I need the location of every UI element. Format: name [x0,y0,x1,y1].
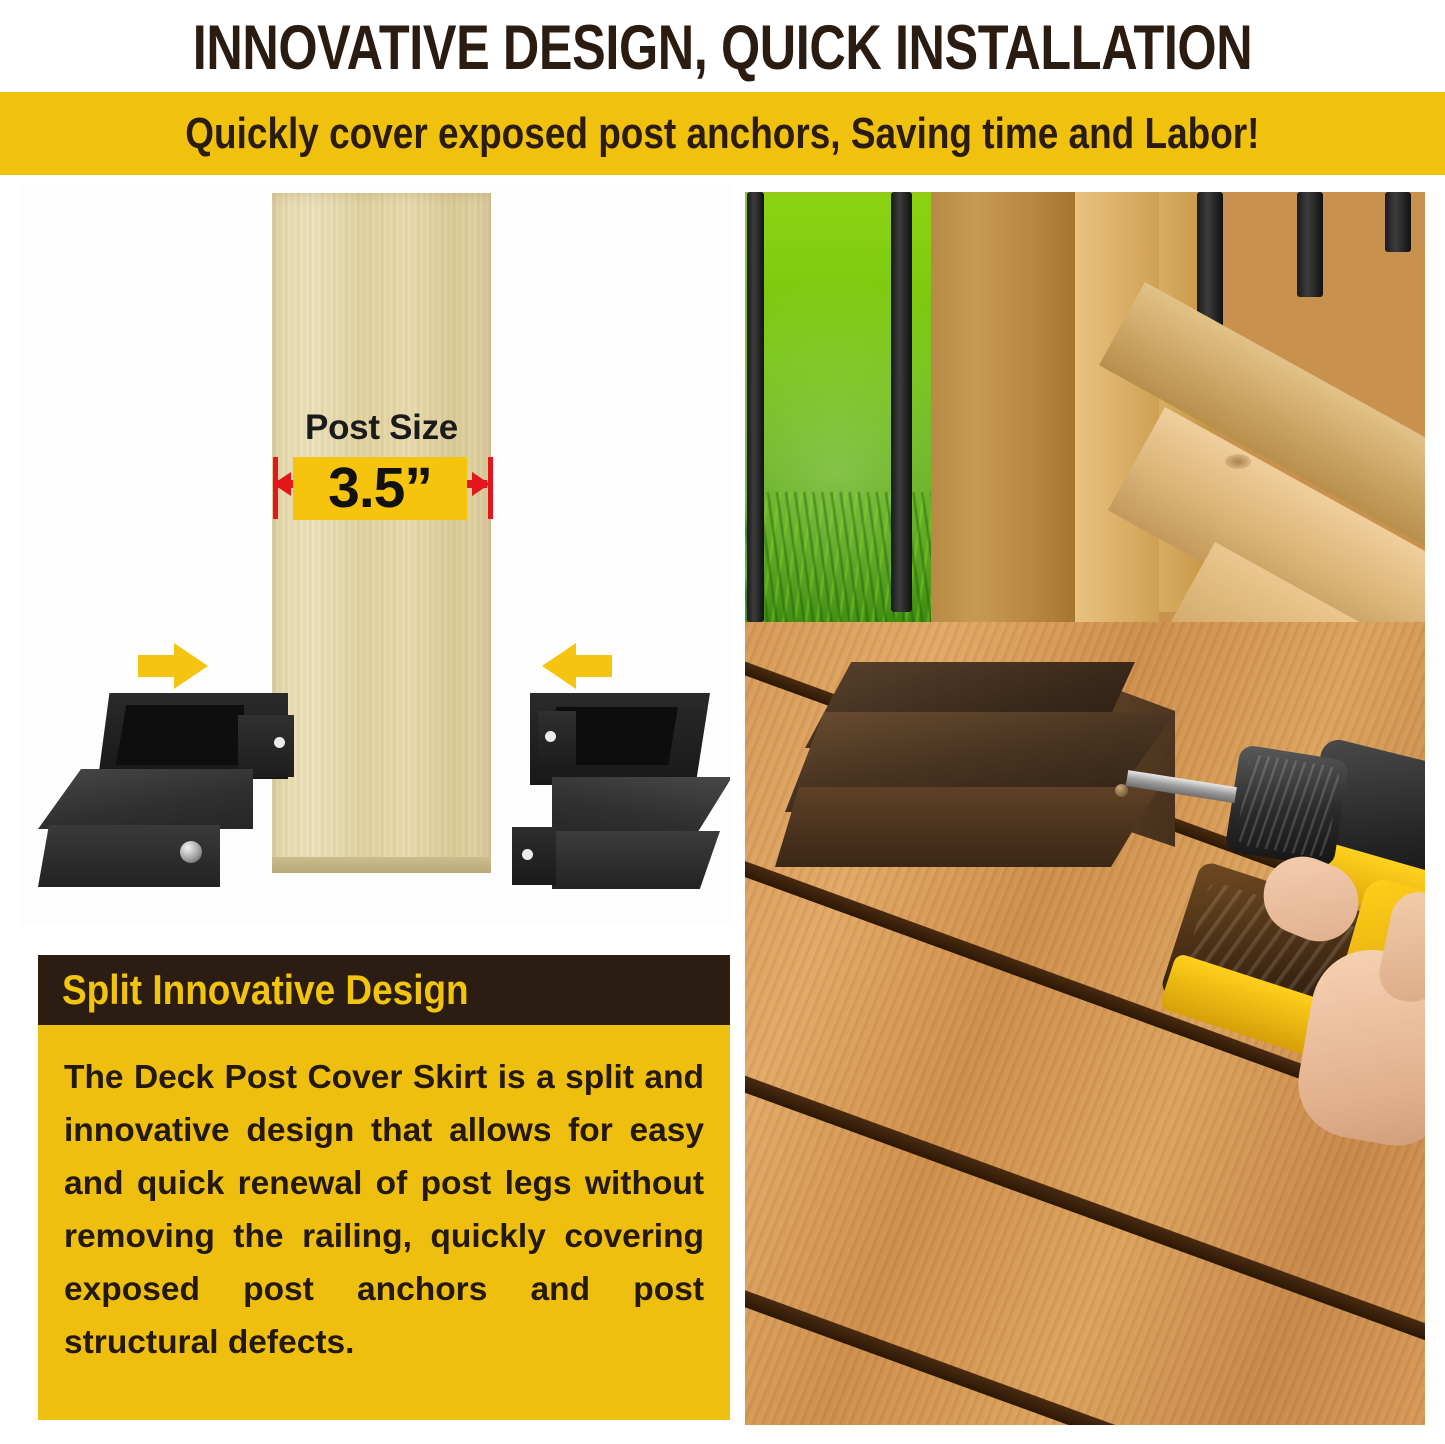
skirt-left-tab [238,715,294,777]
drill-chuck-ridges [1235,753,1340,858]
wooden-post-bottom-face [272,857,491,873]
skirt-right-tab-top [538,711,576,767]
header-subtitle-band: Quickly cover exposed post anchors, Savi… [0,92,1445,175]
feature-body-panel: The Deck Post Cover Skirt is a split and… [38,1025,730,1420]
page-title: INNOVATIVE DESIGN, QUICK INSTALLATION [145,4,1301,92]
skirt-right-tab-lower [512,827,556,885]
skirt-right-top-face [552,777,730,835]
arrow-right-icon [138,643,210,689]
post-size-value-badge: 3.5” [293,457,467,520]
skirt-half-left-image [38,693,298,893]
product-exploded-view-panel: Post Size 3.5” [20,185,730,925]
feature-heading-bar: Split Innovative Design [38,955,730,1025]
arrow-right-head [174,643,208,689]
feature-body-text: The Deck Post Cover Skirt is a split and… [64,1051,704,1369]
skirt-left-screw [180,841,202,863]
arrow-right-shaft [138,655,176,677]
railing-baluster [747,192,764,622]
skirt-left-cavity-inner [116,705,244,765]
wood-knot [1225,454,1251,469]
arrow-left-shaft [574,655,612,677]
skirt-right-screw-hole-lower [522,849,533,860]
railing-baluster [891,192,912,612]
post-size-label: Post Size [272,410,491,445]
header-subtitle: Quickly cover exposed post anchors, Savi… [185,112,1259,156]
railing-baluster [1385,192,1411,252]
installation-photo [745,192,1425,1425]
wooden-post-image [272,193,491,873]
installed-skirt-base-face [775,787,1175,867]
railing-baluster [1297,192,1323,297]
dimension-arrowhead-left-icon [273,472,291,496]
skirt-left-top-face [38,769,253,829]
skirt-right-screw-hole-top [545,731,556,742]
skirt-left-screw-hole [274,737,285,748]
skirt-half-right-image [512,693,730,893]
feature-heading: Split Innovative Design [62,969,469,1011]
arrow-left-head [542,643,576,689]
skirt-right-front-face [552,831,720,889]
dimension-arrowhead-right-icon [472,472,490,496]
post-size-value: 3.5” [328,460,432,517]
arrow-left-icon [540,643,612,689]
